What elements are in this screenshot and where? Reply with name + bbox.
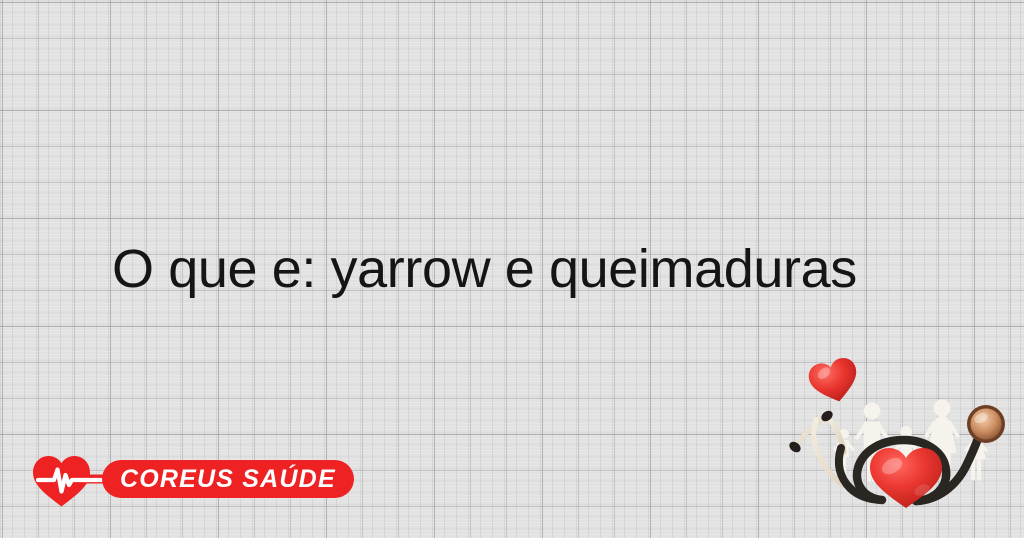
- small-heart-icon: [806, 355, 863, 407]
- slide-canvas: O que e: yarrow e queimaduras COREUS SAÚ…: [0, 0, 1024, 538]
- brand-name-label: COREUS SAÚDE: [120, 465, 336, 494]
- stethoscope-chestpiece-icon: [967, 405, 1005, 443]
- page-title: O que e: yarrow e queimaduras: [112, 240, 942, 298]
- brand-name-banner: COREUS SAÚDE: [102, 460, 354, 498]
- brand-logo[interactable]: COREUS SAÚDE: [30, 450, 350, 512]
- health-family-stethoscope-illustration: [786, 348, 1024, 538]
